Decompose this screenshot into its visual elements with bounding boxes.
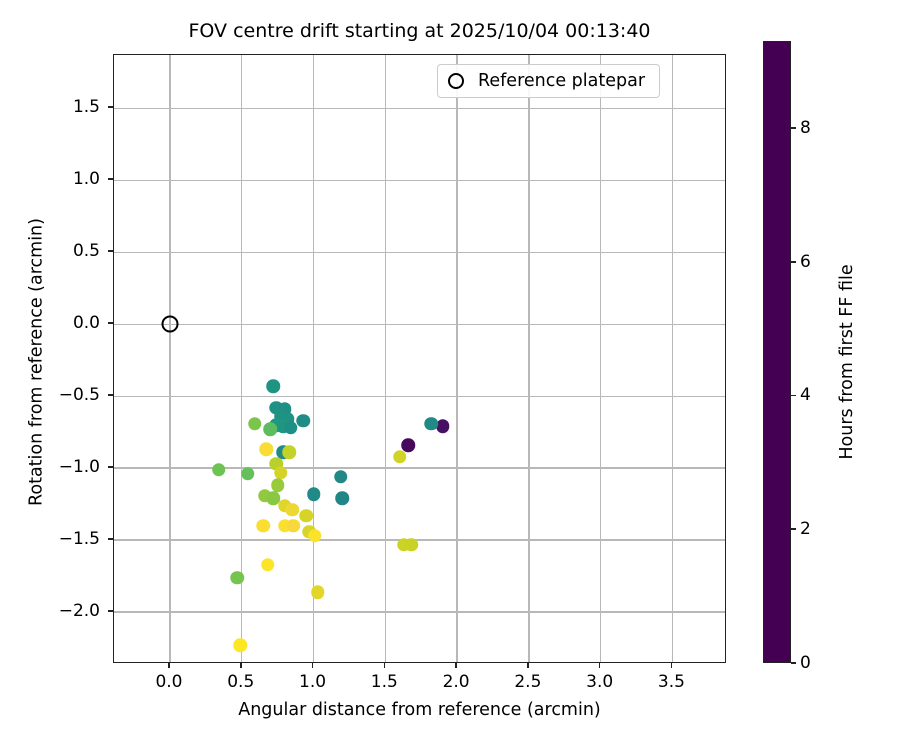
- scatter-point: [267, 379, 281, 393]
- gridline-x-4: [456, 55, 457, 662]
- colorbar-label: Hours from first FF file: [837, 51, 857, 673]
- colorbar-tick-label-0: 0: [800, 653, 811, 673]
- scatter-point: [285, 503, 299, 517]
- scatter-point: [248, 417, 262, 431]
- scatter-point: [393, 450, 407, 464]
- figure-canvas: FOV centre drift starting at 2025/10/04 …: [0, 0, 900, 750]
- colorbar-tick-1: [791, 528, 796, 530]
- y-tick-label-holder-0: 1.5: [0, 107, 100, 127]
- gridline-x-0: [169, 55, 170, 662]
- x-tick-label-1: 0.5: [227, 672, 254, 692]
- y-tick-label-holder-6: −1.5: [0, 539, 100, 559]
- gridline-y-5: [114, 467, 725, 468]
- y-tick-label-holder-4: −0.5: [0, 395, 100, 415]
- gridline-x-7: [672, 55, 673, 662]
- x-tick-label-5: 2.5: [514, 672, 541, 692]
- colorbar-tick-label-2: 4: [800, 385, 811, 405]
- legend-entry-label: Reference platepar: [478, 71, 645, 91]
- colorbar-tick-2: [791, 395, 796, 397]
- scatter-point: [300, 509, 314, 523]
- scatter-point: [234, 639, 248, 653]
- y-tick-label-1: 1.0: [0, 169, 100, 189]
- scatter-point: [436, 420, 450, 434]
- y-tick-4: [108, 394, 113, 396]
- open-circle-icon: [448, 73, 464, 89]
- gridline-y-6: [114, 539, 725, 540]
- y-axis-label: Rotation from reference (arcmin): [27, 58, 47, 667]
- scatter-point: [297, 414, 311, 428]
- scatter-point: [274, 466, 288, 480]
- y-tick-label-4: −0.5: [0, 385, 100, 405]
- y-tick-label-3: 0.0: [0, 313, 100, 333]
- x-tick-label-7: 3.5: [658, 672, 685, 692]
- scatter-point: [308, 529, 322, 543]
- x-tick-5: [527, 663, 529, 668]
- scatter-point: [336, 492, 350, 506]
- y-tick-7: [108, 610, 113, 612]
- y-tick-2: [108, 250, 113, 252]
- x-tick-label-4: 2.0: [443, 672, 470, 692]
- scatter-point: [311, 585, 325, 599]
- x-tick-0: [168, 663, 170, 668]
- reference-platepar-marker: [161, 316, 178, 333]
- y-tick-label-holder-1: 1.0: [0, 179, 100, 199]
- colorbar: 02468: [763, 41, 791, 663]
- gridline-y-7: [114, 611, 725, 612]
- y-tick-label-2: 0.5: [0, 241, 100, 261]
- x-tick-7: [671, 663, 673, 668]
- gridline-y-0: [114, 108, 725, 109]
- page-title: FOV centre drift starting at 2025/10/04 …: [113, 20, 726, 42]
- gridline-x-2: [313, 55, 314, 662]
- colorbar-tick-label-3: 6: [800, 252, 811, 272]
- y-tick-label-holder-2: 0.5: [0, 251, 100, 271]
- x-tick-label-0: 0.0: [155, 672, 182, 692]
- gridline-x-6: [600, 55, 601, 662]
- scatter-point: [231, 571, 245, 585]
- legend: Reference platepar: [437, 64, 660, 98]
- scatter-point: [241, 467, 255, 481]
- scatter-point: [425, 417, 439, 431]
- x-tick-2: [312, 663, 314, 668]
- scatter-point: [257, 519, 271, 533]
- plot-area: [113, 54, 726, 663]
- y-tick-label-5: −1.0: [0, 457, 100, 477]
- y-tick-label-6: −1.5: [0, 529, 100, 549]
- y-tick-label-7: −2.0: [0, 601, 100, 621]
- y-tick-1: [108, 178, 113, 180]
- y-tick-label-holder-5: −1.0: [0, 467, 100, 487]
- scatter-point: [307, 487, 321, 501]
- y-tick-label-0: 1.5: [0, 97, 100, 117]
- x-axis-label: Angular distance from reference (arcmin): [113, 700, 726, 720]
- gridline-y-2: [114, 252, 725, 253]
- x-tick-1: [240, 663, 242, 668]
- gridline-y-1: [114, 180, 725, 181]
- y-tick-6: [108, 538, 113, 540]
- y-tick-0: [108, 106, 113, 108]
- x-tick-4: [455, 663, 457, 668]
- scatter-point: [261, 558, 275, 572]
- colorbar-gradient: [763, 41, 791, 663]
- scatter-point: [212, 463, 226, 477]
- y-tick-label-holder-7: −2.0: [0, 611, 100, 631]
- colorbar-tick-label-1: 2: [800, 519, 811, 539]
- scatter-point: [334, 470, 348, 484]
- scatter-point: [271, 479, 285, 493]
- scatter-point: [282, 446, 296, 460]
- x-tick-label-6: 3.0: [586, 672, 613, 692]
- gridline-y-3: [114, 324, 725, 325]
- y-tick-5: [108, 466, 113, 468]
- scatter-point: [287, 519, 301, 533]
- colorbar-tick-0: [791, 662, 796, 664]
- y-tick-label-holder-3: 0.0: [0, 323, 100, 343]
- scatter-point: [284, 421, 298, 435]
- scatter-point: [264, 423, 278, 437]
- scatter-point: [404, 538, 418, 552]
- x-tick-3: [384, 663, 386, 668]
- scatter-point: [259, 443, 273, 457]
- gridline-x-5: [528, 55, 529, 662]
- x-tick-6: [599, 663, 601, 668]
- x-tick-label-2: 1.0: [299, 672, 326, 692]
- colorbar-tick-3: [791, 261, 796, 263]
- colorbar-tick-label-4: 8: [800, 118, 811, 138]
- gridline-y-4: [114, 396, 725, 397]
- y-tick-3: [108, 322, 113, 324]
- x-tick-label-3: 1.5: [371, 672, 398, 692]
- colorbar-tick-4: [791, 127, 796, 129]
- gridline-x-3: [385, 55, 386, 662]
